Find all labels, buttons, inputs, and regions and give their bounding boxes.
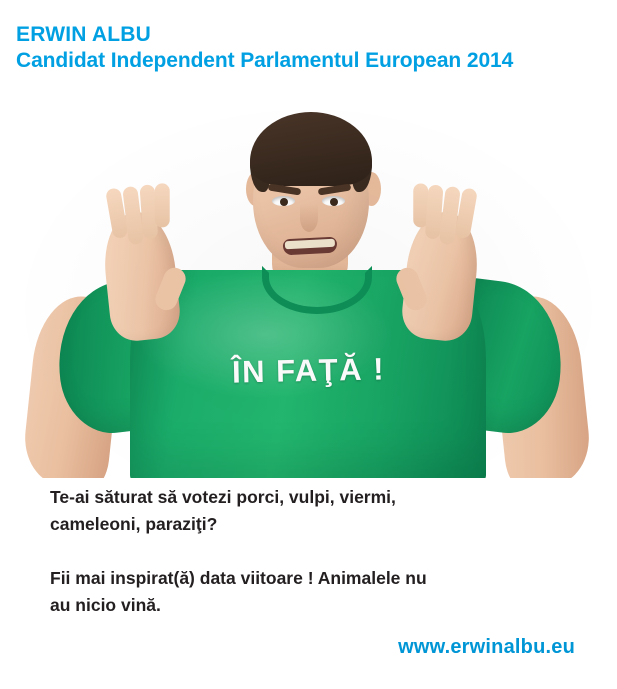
poster-body-text: Te-ai săturat să votezi porci, vulpi, vi… — [50, 484, 580, 619]
body-paragraph-1-line-1: Te-ai săturat să votezi porci, vulpi, vi… — [50, 484, 580, 511]
mouth — [283, 237, 338, 256]
poster-header: ERWIN ALBU Candidat Independent Parlamen… — [16, 22, 606, 74]
website-url[interactable]: www.erwinalbu.eu — [398, 636, 575, 659]
left-hand — [100, 209, 183, 344]
candidate-subtitle: Candidat Independent Parlamentul Europea… — [16, 48, 606, 74]
finger — [155, 183, 170, 227]
hair — [250, 112, 372, 186]
candidate-photo: ÎN FAŢĂ ! — [0, 100, 617, 478]
campaign-poster: ERWIN ALBU Candidat Independent Parlamen… — [0, 0, 617, 689]
nose — [300, 204, 318, 232]
candidate-name: ERWIN ALBU — [16, 22, 606, 48]
body-paragraph-2-line-2: au nicio vină. — [50, 592, 580, 619]
left-pupil — [280, 198, 288, 206]
teeth — [285, 239, 335, 250]
paragraph-spacer — [50, 538, 580, 565]
right-pupil — [330, 198, 338, 206]
right-hand — [400, 209, 483, 344]
body-paragraph-2-line-1: Fii mai inspirat(ă) data viitoare ! Anim… — [50, 565, 580, 592]
body-paragraph-1-line-2: cameleoni, paraziţi? — [50, 511, 580, 538]
